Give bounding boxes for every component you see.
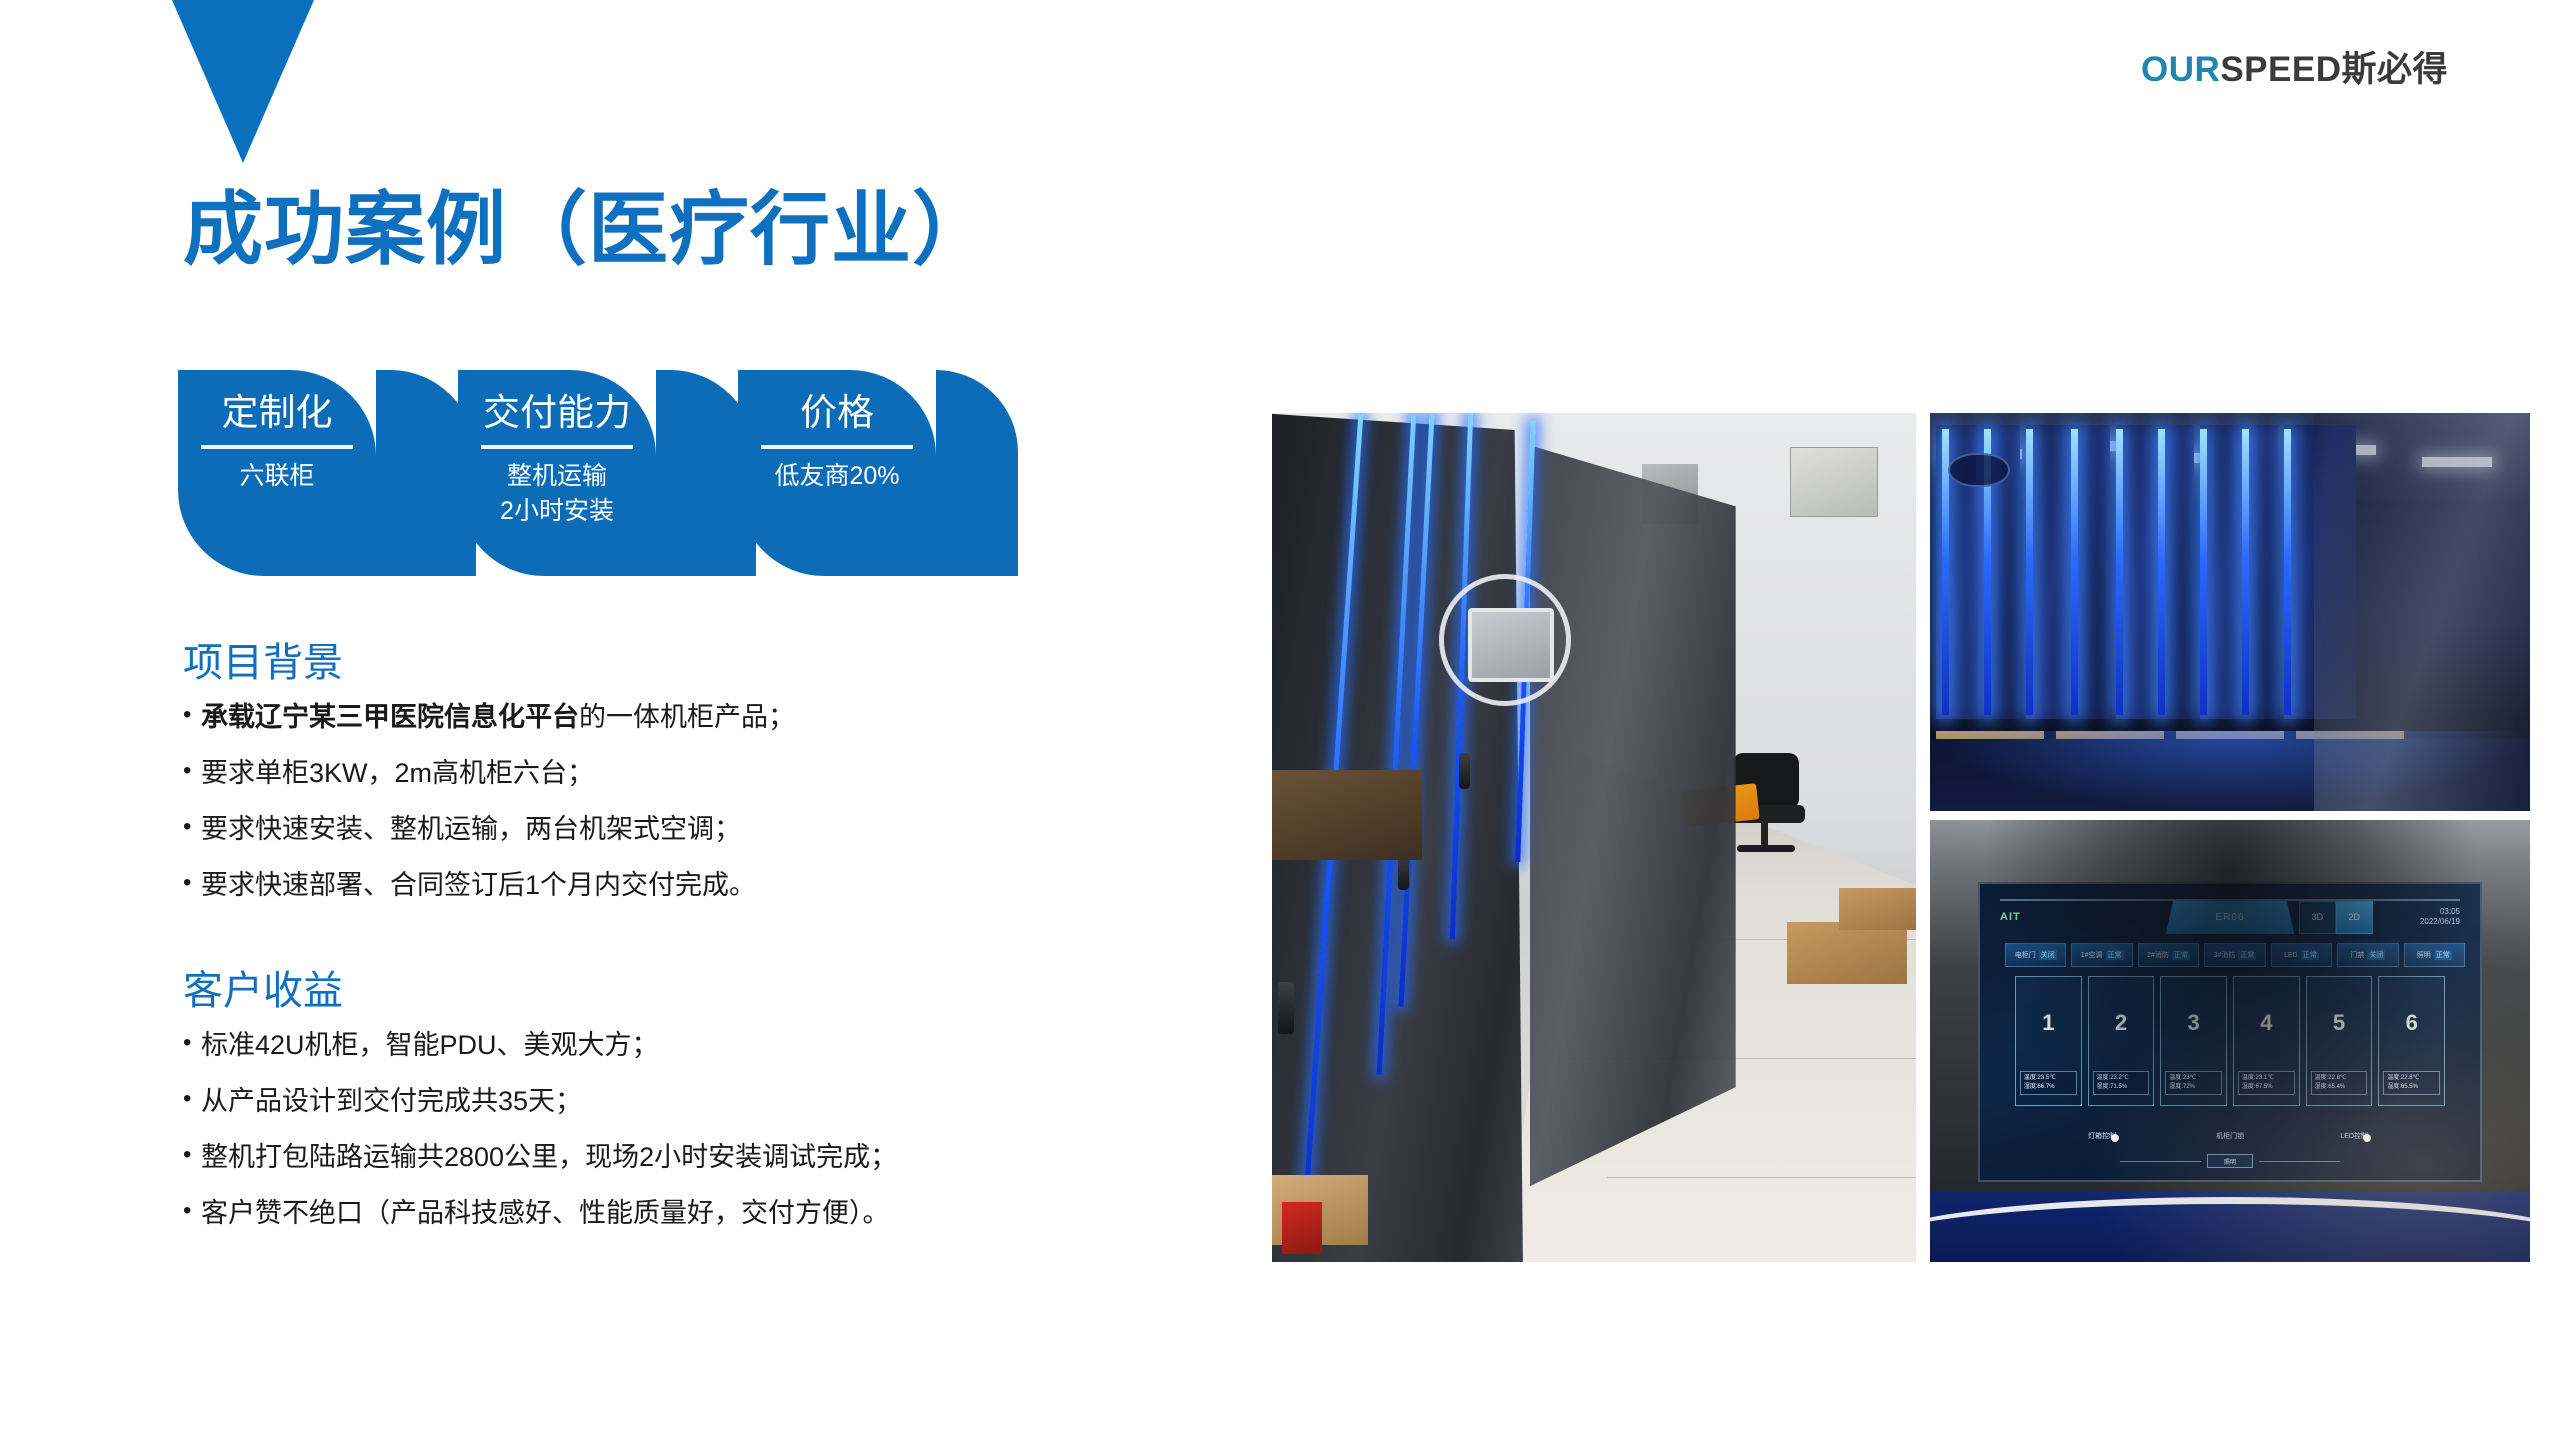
chair-pole <box>1761 821 1768 847</box>
list-item: • 从产品设计到交付完成共35天； <box>183 1082 897 1121</box>
list-item: • 客户赞不绝口（产品科技感好、性能质量好，交付方便）。 <box>183 1194 897 1233</box>
rack-number: 3 <box>2161 1010 2226 1036</box>
led-strip <box>2071 429 2078 716</box>
rack-cabinet <box>2116 425 2194 720</box>
slider-track-right[interactable] <box>2259 1161 2340 1162</box>
rack-number: 6 <box>2379 1010 2444 1036</box>
badge-subline: 整机运输 <box>507 459 607 494</box>
led-strip <box>2200 429 2207 716</box>
view-mode-2d[interactable]: 2D <box>2336 901 2373 935</box>
ait-logo: AIT <box>2000 911 2021 923</box>
list-item-rest: 的一体机柜产品； <box>579 702 795 732</box>
touchscreen-display[interactable]: AIT ER06 3D 2D 03:05 2022/06/19 电柜门关闭 1#… <box>1978 882 2482 1183</box>
list-item-text: 要求单柜3KW，2m高机柜六台； <box>201 754 594 793</box>
status-badge[interactable]: 1#空调正常 <box>2071 943 2132 967</box>
badge-heading: 价格 <box>800 390 874 436</box>
rack-humidity: 湿度:71.5% <box>2097 1083 2146 1092</box>
brand-logo-cn: 斯必得 <box>2341 50 2448 89</box>
rack-cell[interactable]: 5 温度:22.8℃ 湿度:65.4% <box>2306 976 2373 1106</box>
rack-humidity: 湿度:67.5% <box>2242 1083 2291 1092</box>
screen-clock: 03:05 2022/06/19 <box>2420 907 2460 928</box>
rack-readout: 温度:23.1℃ 湿度:67.5% <box>2238 1071 2295 1095</box>
view-mode-3d[interactable]: 3D <box>2299 901 2336 935</box>
bullet-marker: • <box>183 810 201 845</box>
status-badge[interactable]: 3#消防正常 <box>2204 943 2265 967</box>
clock-date: 2022/06/19 <box>2420 917 2460 927</box>
section-heading: 项目背景 <box>183 640 795 686</box>
rack-humidity: 湿度:72% <box>2169 1083 2218 1092</box>
list-item-emphasis: 承载辽宁某三甲医院信息化平台 <box>201 702 579 732</box>
toggle-led[interactable]: LED控制 <box>2340 1131 2372 1141</box>
blue-cabinet-base <box>1930 1191 2530 1262</box>
badge-subline: 六联柜 <box>239 459 314 494</box>
led-strip <box>2284 429 2291 716</box>
led-strip <box>2242 429 2249 716</box>
badge-subline: 2小时安装 <box>500 494 614 529</box>
rack-diagram-row: 1 温度:23.5℃ 湿度:66.7% 2 温度:23.2℃ 湿度:71.5% … <box>2015 976 2445 1106</box>
list-item: • 要求快速安装、整机运输，两台机架式空调； <box>183 810 795 849</box>
led-strip <box>2026 429 2033 716</box>
toggle-lightbox[interactable]: 灯箱控制 <box>2088 1131 2120 1141</box>
badge-heading: 定制化 <box>222 390 333 436</box>
list-item: • 承载辽宁某三甲医院信息化平台的一体机柜产品； <box>183 698 795 737</box>
rack-cell[interactable]: 3 温度:23℃ 湿度:72% <box>2160 976 2227 1106</box>
status-value: 正常 <box>2172 950 2190 960</box>
rack-readout: 温度:23.5℃ 湿度:66.7% <box>2020 1071 2077 1095</box>
list-item-text: 承载辽宁某三甲医院信息化平台的一体机柜产品； <box>201 698 795 737</box>
rack-temperature: 温度:23.5℃ <box>2024 1074 2073 1083</box>
photo-blue-led-racks <box>1930 413 2530 811</box>
bullet-marker: • <box>183 1026 201 1061</box>
status-badge[interactable]: 门禁关闭 <box>2337 943 2398 967</box>
brand-logo-our: OUR <box>2141 50 2220 89</box>
page-title: 成功案例（医疗行业） <box>183 188 993 272</box>
floor-tile-line <box>1607 1177 1916 1178</box>
rack-cabinet <box>2200 425 2278 720</box>
toggle-doorlock[interactable]: 机柜门锁 <box>2216 1131 2244 1141</box>
slider-knob[interactable]: 照明 <box>2207 1154 2253 1168</box>
status-badge[interactable]: 电柜门关闭 <box>2005 943 2066 967</box>
brand-logo: OURSPEED斯必得 <box>2141 52 2448 87</box>
section-customer-benefits: 客户收益 • 标准42U机柜，智能PDU、美观大方； • 从产品设计到交付完成共… <box>183 968 897 1251</box>
list-item-text: 从产品设计到交付完成共35天； <box>201 1082 582 1121</box>
rack-temperature: 温度:22.8℃ <box>2315 1074 2364 1083</box>
cardboard-box <box>1787 922 1907 984</box>
status-label: LED <box>2284 952 2298 959</box>
triangle-accent-shape <box>172 0 314 163</box>
clock-time: 03:05 <box>2420 907 2460 917</box>
cabinet-lock <box>1278 982 1294 1034</box>
bullet-marker: • <box>183 1138 201 1173</box>
rack-humidity: 湿度:65.4% <box>2315 1083 2364 1092</box>
status-badge[interactable]: 照明正常 <box>2404 943 2465 967</box>
slider-track-left[interactable] <box>2120 1161 2201 1162</box>
screen-topbar: AIT ER06 3D 2D 03:05 2022/06/19 <box>2000 899 2460 935</box>
control-toggle-row: 灯箱控制 机柜门锁 LED控制 <box>2040 1124 2420 1148</box>
status-label: 电柜门 <box>2015 950 2036 960</box>
rack-cell[interactable]: 6 温度:22.8℃ 湿度:65.5% <box>2378 976 2445 1106</box>
status-label: 3#消防 <box>2214 950 2236 960</box>
led-strip <box>2116 429 2123 716</box>
list-item-text: 客户赞不绝口（产品科技感好、性能质量好，交付方便）。 <box>201 1194 890 1233</box>
badge-divider <box>761 445 913 449</box>
crate-foreground <box>1272 770 1422 860</box>
rack-readout: 温度:23℃ 湿度:72% <box>2165 1071 2222 1095</box>
feature-badge-customization[interactable]: 定制化 六联柜 <box>178 370 376 576</box>
status-badge[interactable]: 2#消防正常 <box>2138 943 2199 967</box>
status-value: 正常 <box>2238 950 2256 960</box>
toggle-label: 机柜门锁 <box>2216 1133 2244 1140</box>
bullet-marker: • <box>183 754 201 789</box>
bullet-marker: • <box>183 1194 201 1229</box>
rack-number: 2 <box>2089 1010 2154 1036</box>
bullet-marker: • <box>183 866 201 901</box>
cardboard-box <box>1839 888 1916 930</box>
rack-cell[interactable]: 2 温度:23.2℃ 湿度:71.5% <box>2088 976 2155 1106</box>
list-item-text: 标准42U机柜，智能PDU、美观大方； <box>201 1026 659 1065</box>
rack-cabinet <box>2026 425 2110 720</box>
status-pill-row: 电柜门关闭 1#空调正常 2#消防正常 3#消防正常 LED正常 门禁关闭 照明… <box>2005 943 2465 967</box>
section-heading: 客户收益 <box>183 968 897 1014</box>
photo-monitoring-touchscreen: AIT ER06 3D 2D 03:05 2022/06/19 电柜门关闭 1#… <box>1930 820 2530 1262</box>
status-label: 照明 <box>2417 950 2431 960</box>
badge-divider <box>201 445 353 449</box>
rack-readout: 温度:22.8℃ 湿度:65.5% <box>2383 1071 2440 1095</box>
chair-base <box>1737 845 1795 852</box>
rack-cell[interactable]: 4 温度:23.1℃ 湿度:67.5% <box>2233 976 2300 1106</box>
list-item: • 标准42U机柜，智能PDU、美观大方； <box>183 1026 897 1065</box>
wall-electrical-panel <box>1790 447 1878 517</box>
feature-badge-row: 定制化 六联柜 交付能力 整机运输 2小时安装 价格 低友商20% <box>178 370 936 576</box>
rack-humidity: 湿度:66.7% <box>2024 1083 2073 1092</box>
rack-number: 5 <box>2307 1010 2372 1036</box>
list-item-text: 整机打包陆路运输共2800公里，现场2小时安装调试完成； <box>201 1138 897 1177</box>
rack-humidity: 湿度:65.5% <box>2387 1083 2436 1092</box>
bullet-marker: • <box>183 698 201 733</box>
status-badge[interactable]: LED正常 <box>2271 943 2332 967</box>
badge-heading: 交付能力 <box>483 390 631 436</box>
status-value: 关闭 <box>2039 950 2057 960</box>
status-value: 正常 <box>2434 950 2452 960</box>
list-item: • 要求单柜3KW，2m高机柜六台； <box>183 754 795 793</box>
photo-server-corridor <box>1272 413 1916 1262</box>
list-item-text: 要求快速安装、整机运输，两台机架式空调； <box>201 810 741 849</box>
status-label: 1#空调 <box>2081 950 2103 960</box>
list-item: • 整机打包陆路运输共2800公里，现场2小时安装调试完成； <box>183 1138 897 1177</box>
rack-cell[interactable]: 1 温度:23.5℃ 湿度:66.7% <box>2015 976 2082 1106</box>
status-value: 正常 <box>2106 950 2124 960</box>
rack-readout: 温度:23.2℃ 湿度:71.5% <box>2093 1071 2150 1095</box>
server-cabinet-background <box>1530 430 1736 1194</box>
section-project-background: 项目背景 • 承载辽宁某三甲医院信息化平台的一体机柜产品； • 要求单柜3KW，… <box>183 640 795 923</box>
cabinet-lock <box>1398 854 1409 890</box>
feature-badge-delivery[interactable]: 交付能力 整机运输 2小时安装 <box>458 370 656 576</box>
led-strip <box>2158 429 2165 716</box>
rack-temperature: 温度:22.8℃ <box>2387 1074 2436 1083</box>
cabinet-lock <box>1459 753 1470 789</box>
rack-temperature: 温度:23.2℃ <box>2097 1074 2146 1083</box>
cabinet-keypad <box>1948 453 2010 487</box>
screen-title: ER06 <box>2166 901 2295 935</box>
list-item: • 要求快速部署、合同签订后1个月内交付完成。 <box>183 866 795 905</box>
brand-logo-speed: SPEED <box>2220 50 2341 89</box>
badge-subline: 低友商20% <box>774 459 899 494</box>
rack-temperature: 温度:23℃ <box>2169 1074 2218 1083</box>
red-label-sticker <box>1282 1202 1322 1254</box>
view-mode-switch[interactable]: 3D 2D <box>2299 901 2373 935</box>
glass-reflection-overlay <box>2314 413 2530 811</box>
rack-temperature: 温度:23.1℃ <box>2242 1074 2291 1083</box>
rack-number: 1 <box>2016 1010 2081 1036</box>
status-value: 正常 <box>2301 950 2319 960</box>
rack-readout: 温度:22.8℃ 湿度:65.4% <box>2311 1071 2368 1095</box>
rack-number: 4 <box>2234 1010 2299 1036</box>
status-label: 门禁 <box>2350 950 2364 960</box>
badge-divider <box>481 445 633 449</box>
status-label: 2#消防 <box>2147 950 2169 960</box>
highlight-circle-annotation <box>1439 574 1571 706</box>
feature-badge-price[interactable]: 价格 低友商20% <box>738 370 936 576</box>
status-value: 关闭 <box>2367 950 2385 960</box>
bullet-marker: • <box>183 1082 201 1117</box>
list-item-text: 要求快速部署、合同签订后1个月内交付完成。 <box>201 866 756 905</box>
brightness-slider[interactable]: 照明 <box>2120 1151 2340 1172</box>
